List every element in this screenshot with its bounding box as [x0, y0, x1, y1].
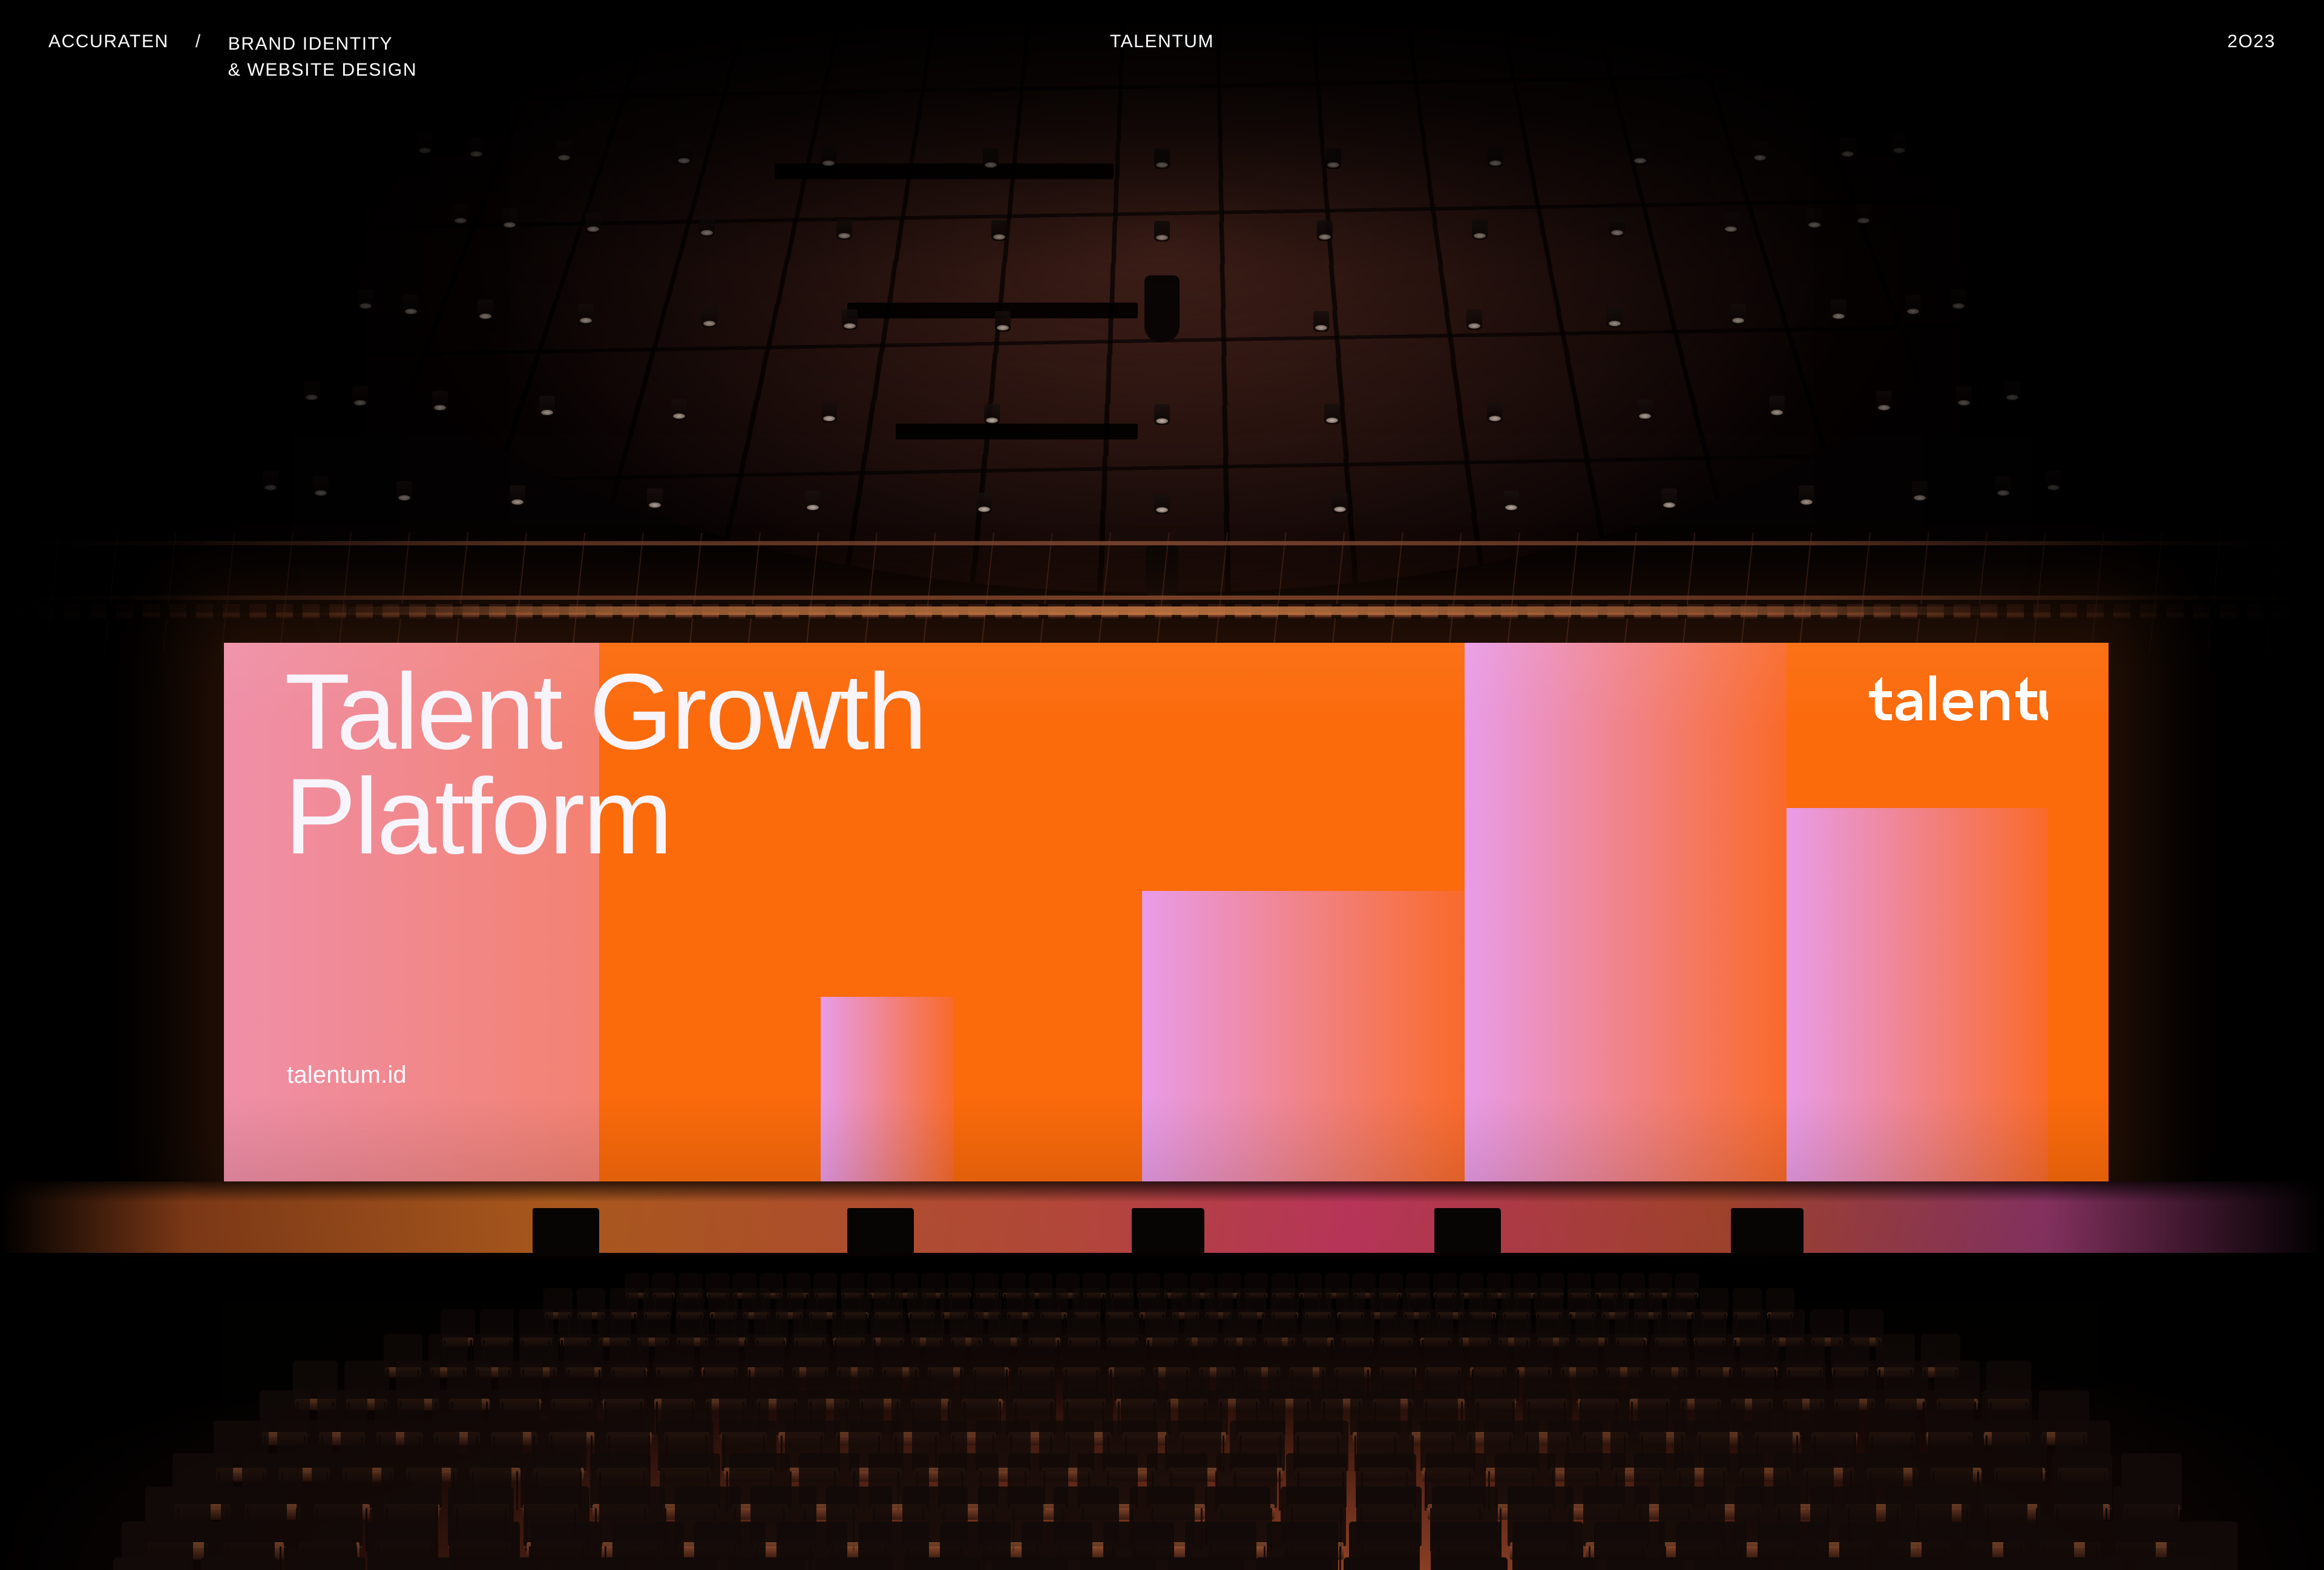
audience-chair: [640, 1557, 717, 1570]
audience-chair: [1607, 1557, 1684, 1570]
audience-chair: [1958, 1557, 2035, 1570]
chair-back: [1783, 1557, 1859, 1570]
chair-back: [904, 1557, 980, 1570]
led-screen-slide: Talent Growth Platform talentum.id: [224, 643, 2109, 1181]
audience-chair: [2047, 1557, 2123, 1570]
audience-chair: [1519, 1557, 1595, 1570]
audience-chair: [553, 1557, 629, 1570]
header-project-title: TALENTUM: [1110, 31, 1214, 52]
audience-chair: [201, 1557, 277, 1570]
chair-back: [1080, 1557, 1156, 1570]
chair-back: [1695, 1557, 1771, 1570]
page-header: ACCURATEN / BRAND IDENTITY & WEBSITE DES…: [0, 0, 2324, 85]
chart-bar-2: [1142, 891, 1464, 1181]
audience-chair: [1080, 1557, 1156, 1570]
chair-back: [1344, 1557, 1420, 1570]
chair-back: [1871, 1557, 1947, 1570]
audience-chair: [289, 1557, 366, 1570]
audience-chair: [113, 1557, 189, 1570]
audience-chair: [729, 1557, 805, 1570]
header-year: 2O23: [2227, 31, 2276, 52]
screenshot-root: Talent Growth Platform talentum.id: [0, 0, 2324, 1570]
audience-chair: [992, 1557, 1068, 1570]
audience-chair: [2135, 1557, 2211, 1570]
stage-monitor: [1731, 1208, 1804, 1253]
seat-row: [0, 1557, 2324, 1570]
chair-back: [553, 1557, 629, 1570]
chair-back: [992, 1557, 1068, 1570]
header-brand: ACCURATEN: [48, 31, 169, 52]
audience-chair: [1783, 1557, 1859, 1570]
audience-chair: [465, 1557, 541, 1570]
audience-chair: [1344, 1557, 1420, 1570]
stage-monitor: [1434, 1208, 1501, 1253]
audience-seating: [0, 1256, 2324, 1570]
header-separator: /: [195, 31, 202, 52]
slide-headline: Talent Growth Platform: [284, 660, 925, 869]
chair-back: [729, 1557, 805, 1570]
chair-back: [1607, 1557, 1684, 1570]
header-left-group: ACCURATEN / BRAND IDENTITY & WEBSITE DES…: [48, 31, 417, 83]
chair-back: [1168, 1557, 1244, 1570]
chair-back: [201, 1557, 277, 1570]
chair-back: [2047, 1557, 2123, 1570]
chart-bar-4: [1787, 808, 2048, 1181]
chair-back: [377, 1557, 453, 1570]
slide-url: talentum.id: [287, 1062, 407, 1089]
chair-back: [113, 1557, 189, 1570]
audience-chair: [816, 1557, 893, 1570]
stage-monitor: [533, 1208, 599, 1253]
chair-back: [640, 1557, 717, 1570]
chart-bar-1: [821, 997, 954, 1181]
stage-monitor: [1132, 1208, 1204, 1253]
stage-monitor: [847, 1208, 914, 1253]
chart-bar-3: [1465, 643, 1787, 1181]
chair-back: [465, 1557, 541, 1570]
audience-chair: [1431, 1557, 1508, 1570]
chair-back: [1431, 1557, 1508, 1570]
audience-chair: [377, 1557, 453, 1570]
talentum-logo: [1866, 674, 2048, 724]
audience-chair: [1695, 1557, 1771, 1570]
header-service: BRAND IDENTITY & WEBSITE DESIGN: [228, 31, 417, 83]
audience-chair: [1256, 1557, 1332, 1570]
chair-back: [289, 1557, 366, 1570]
chair-back: [1256, 1557, 1332, 1570]
chair-back: [1958, 1557, 2035, 1570]
audience-chair: [1871, 1557, 1947, 1570]
chair-back: [1519, 1557, 1595, 1570]
chair-back: [816, 1557, 893, 1570]
audience-chair: [1168, 1557, 1244, 1570]
audience-chair: [904, 1557, 980, 1570]
chair-back: [2135, 1557, 2211, 1570]
